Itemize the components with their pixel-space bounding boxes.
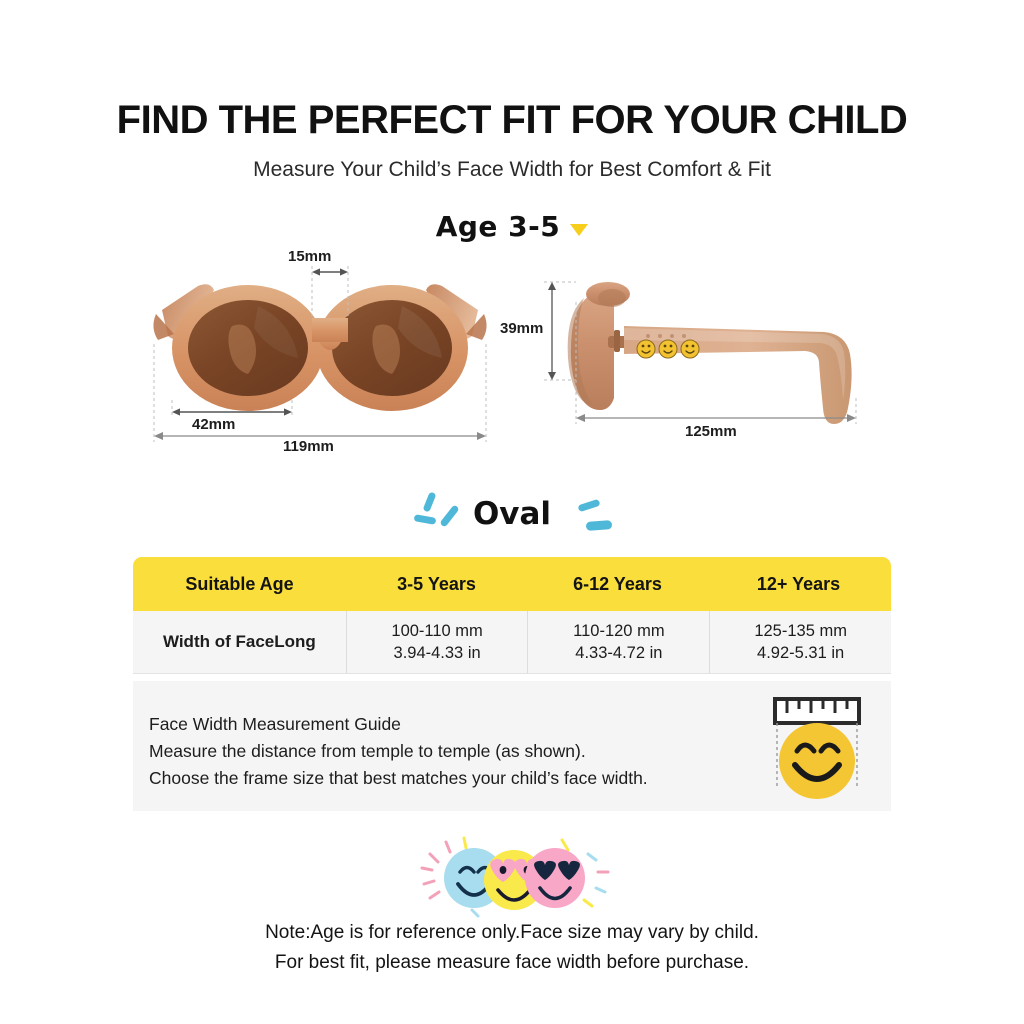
dimension-temple-length: 125mm — [685, 423, 737, 440]
value-in: 4.92-5.31 in — [757, 642, 844, 664]
table-cell-width-6-12: 110-120 mm 4.33-4.72 in — [527, 611, 709, 673]
value-mm: 110-120 mm — [573, 620, 664, 642]
value-in: 4.33-4.72 in — [575, 642, 662, 664]
sunglasses-front-view: 15mm 42mm 119mm — [140, 248, 500, 460]
accent-dash — [586, 520, 613, 531]
measurement-guide-panel: Face Width Measurement Guide Measure the… — [133, 681, 891, 811]
table-row-label: Width of FaceLong — [133, 611, 346, 673]
smiley-sticker-icon — [637, 340, 699, 358]
measurement-guide-text: Face Width Measurement Guide Measure the… — [149, 711, 648, 792]
table-header-age-6-12: 6-12 Years — [527, 557, 708, 611]
product-figures: 15mm 42mm 119mm — [0, 248, 1024, 460]
dimension-bridge-width: 15mm — [288, 248, 331, 265]
table-header-age-12plus: 12+ Years — [708, 557, 889, 611]
dimension-lens-width: 42mm — [192, 416, 235, 433]
page-title: FIND THE PERFECT FIT FOR YOUR CHILD — [0, 98, 1024, 143]
table-cell-width-3-5: 100-110 mm 3.94-4.33 in — [346, 611, 528, 673]
age-selector[interactable]: Age 3-5 — [0, 210, 1024, 243]
guide-line-3: Choose the frame size that best matches … — [149, 765, 648, 792]
triangle-down-icon — [570, 224, 588, 236]
guide-heading: Face Width Measurement Guide — [149, 711, 648, 738]
table-header-row: Suitable Age 3-5 Years 6-12 Years 12+ Ye… — [133, 557, 891, 611]
table-header-age-3-5: 3-5 Years — [346, 557, 527, 611]
value-mm: 125-135 mm — [754, 620, 847, 642]
frame-shape-section: Oval — [0, 488, 1024, 548]
infographic-page: FIND THE PERFECT FIT FOR YOUR CHILD Meas… — [0, 0, 1024, 1024]
value-in: 3.94-4.33 in — [394, 642, 481, 664]
dimension-lens-height: 39mm — [500, 320, 543, 337]
page-subtitle: Measure Your Child’s Face Width for Best… — [0, 158, 1024, 182]
table-row: Width of FaceLong 100-110 mm 3.94-4.33 i… — [133, 611, 891, 674]
value-mm: 100-110 mm — [391, 620, 482, 642]
dimension-total-width: 119mm — [283, 438, 334, 455]
size-table: Suitable Age 3-5 Years 6-12 Years 12+ Ye… — [133, 557, 891, 674]
footer-note-line-1: Note:Age is for reference only.Face size… — [0, 918, 1024, 948]
sunglasses-side-view: 39mm 125mm — [500, 258, 910, 458]
age-selector-label: Age 3-5 — [436, 210, 561, 243]
frame-shape-name: Oval — [0, 496, 1024, 532]
table-header-suitable-age: Suitable Age — [133, 557, 346, 611]
ruler-over-smiley-icon — [761, 695, 873, 803]
guide-line-2: Measure the distance from temple to temp… — [149, 738, 648, 765]
three-smiley-faces-icon — [412, 832, 617, 920]
footer-note-line-2: For best fit, please measure face width … — [0, 948, 1024, 978]
footer-note: Note:Age is for reference only.Face size… — [0, 918, 1024, 979]
table-cell-width-12plus: 125-135 mm 4.92-5.31 in — [709, 611, 891, 673]
